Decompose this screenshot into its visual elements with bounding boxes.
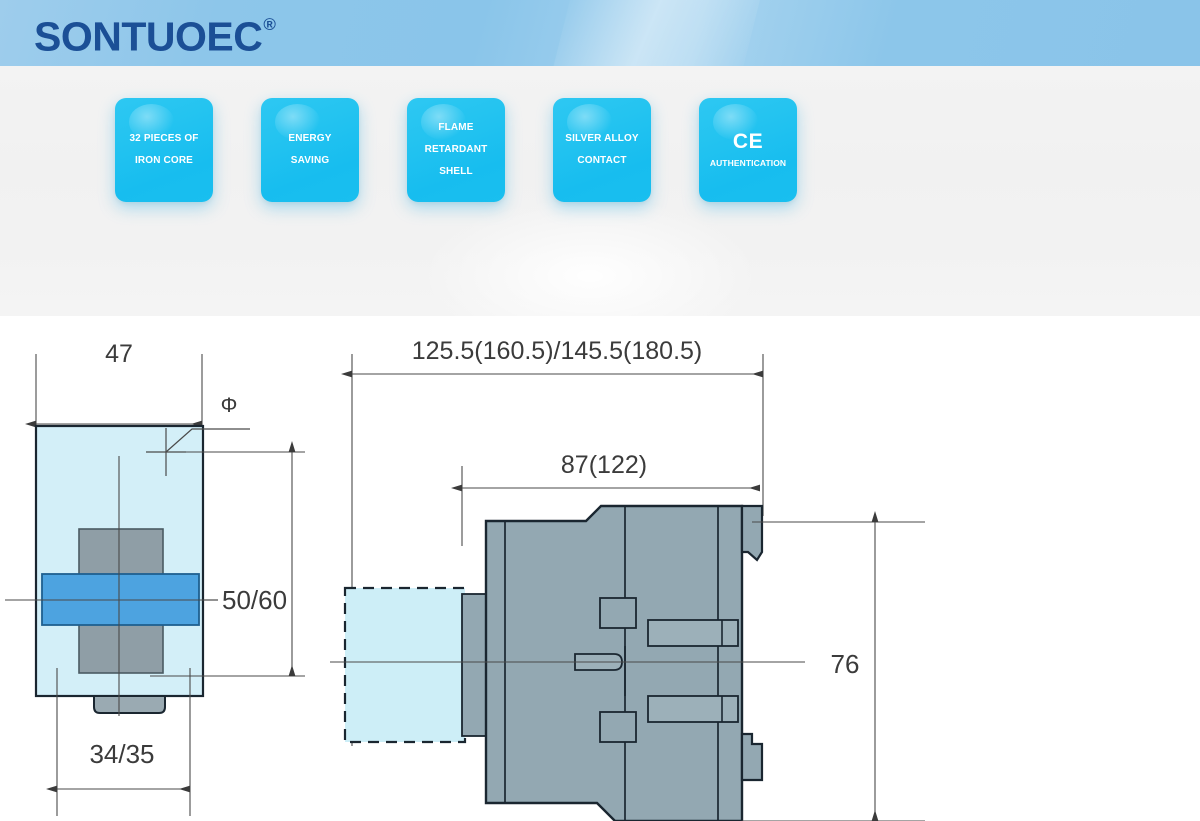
features-section: 32 PIECES OF IRON CORE ENERGY SAVING FLA… xyxy=(0,66,1200,316)
badge-ce-authentication[interactable]: CE AUTHENTICATION xyxy=(699,98,797,202)
brand-logo: SONTUOEC® xyxy=(34,6,274,62)
badge-silver-alloy-contact[interactable]: SILVER ALLOY CONTACT xyxy=(553,98,651,202)
dim-label-body-length: 87(122) xyxy=(561,451,647,479)
front-view-mounting-foot xyxy=(94,696,165,713)
badge-line: CONTACT xyxy=(577,150,626,172)
badge-flame-retardant-shell[interactable]: FLAME RETARDANT SHELL xyxy=(407,98,505,202)
side-view-connector-tab xyxy=(462,594,486,736)
badge-line: CE xyxy=(733,129,763,154)
dimension-diagram: 47 xyxy=(0,316,1200,821)
badge-line: IRON CORE xyxy=(135,150,193,172)
header-bar: SONTUOEC® xyxy=(0,0,1200,66)
side-view-group: 125.5(160.5)/145.5(180.5) 87(122) xyxy=(330,337,925,821)
page-root: SONTUOEC® 32 PIECES OF IRON CORE ENERGY … xyxy=(0,0,1200,821)
dim-label-height-76: 76 xyxy=(831,649,860,679)
side-view-terminal-slot-bottom xyxy=(648,696,738,722)
dim-label-mount-34-35: 34/35 xyxy=(89,739,154,769)
badge-energy-saving[interactable]: ENERGY SAVING xyxy=(261,98,359,202)
dimension-diagram-svg: 47 xyxy=(0,316,1200,821)
badge-line: 32 PIECES OF xyxy=(129,128,198,150)
badge-line: RETARDANT xyxy=(425,139,488,161)
side-view-terminal-tab-top xyxy=(600,598,636,628)
badge-iron-core[interactable]: 32 PIECES OF IRON CORE xyxy=(115,98,213,202)
side-view-lug-top xyxy=(742,506,762,560)
dim-label-height-50-60: 50/60 xyxy=(222,585,287,615)
registered-trademark-icon: ® xyxy=(263,15,275,34)
brand-name: SONTUOEC xyxy=(34,14,262,60)
dim-label-width-47: 47 xyxy=(105,340,133,368)
side-view-accessory-block xyxy=(345,588,465,742)
badge-line: FLAME xyxy=(438,117,473,139)
badge-line: SAVING xyxy=(291,150,330,172)
front-view-group: 47 xyxy=(5,340,305,816)
feature-badge-row: 32 PIECES OF IRON CORE ENERGY SAVING FLA… xyxy=(115,98,797,202)
dim-label-overall-length: 125.5(160.5)/145.5(180.5) xyxy=(412,337,703,365)
badge-line: ENERGY xyxy=(288,128,331,150)
dim-label-phi: Φ xyxy=(221,394,238,417)
side-view-terminal-tab-bottom xyxy=(600,712,636,742)
badge-line: SHELL xyxy=(439,161,473,183)
side-view-terminal-slot-top xyxy=(648,620,738,646)
side-view-lug-bottom xyxy=(742,734,762,780)
badge-line: SILVER ALLOY xyxy=(565,128,638,150)
badge-line: AUTHENTICATION xyxy=(710,154,786,172)
